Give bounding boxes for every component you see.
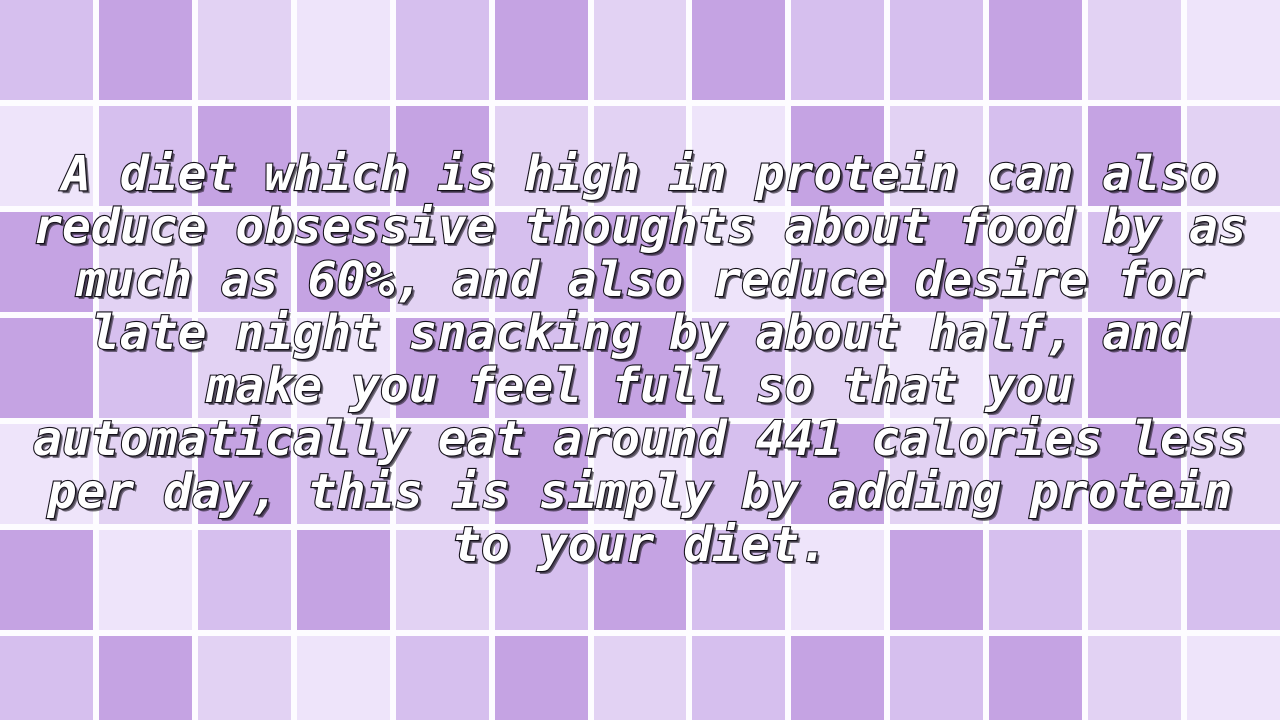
background-tile	[989, 318, 1082, 418]
background-tile	[297, 106, 390, 206]
background-tile	[594, 424, 687, 524]
background-tile	[692, 0, 785, 100]
background-tile	[99, 636, 192, 720]
background-tile	[692, 212, 785, 312]
background-tile	[1088, 530, 1181, 630]
background-tile	[396, 530, 489, 630]
background-tile	[791, 424, 884, 524]
background-tile	[594, 0, 687, 100]
background-tile	[0, 424, 93, 524]
background-tile	[989, 0, 1082, 100]
background-tile	[198, 636, 291, 720]
background-tile	[198, 0, 291, 100]
background-tile	[198, 106, 291, 206]
background-tile	[297, 318, 390, 418]
background-tile	[297, 212, 390, 312]
background-tile	[99, 0, 192, 100]
background-tile	[791, 106, 884, 206]
background-tile	[198, 318, 291, 418]
background-tile	[0, 318, 93, 418]
background-tile	[594, 318, 687, 418]
background-tile	[99, 318, 192, 418]
background-tile	[989, 212, 1082, 312]
background-tile	[1187, 318, 1280, 418]
background-tile	[396, 424, 489, 524]
background-tile	[99, 530, 192, 630]
background-tile	[396, 636, 489, 720]
background-tile	[495, 530, 588, 630]
background-tile	[791, 530, 884, 630]
background-tile	[890, 424, 983, 524]
background-tile	[1187, 106, 1280, 206]
background-tile	[99, 212, 192, 312]
background-tile	[495, 424, 588, 524]
background-tile	[99, 106, 192, 206]
background-tile	[594, 636, 687, 720]
background-tile	[1187, 424, 1280, 524]
background-tile	[0, 212, 93, 312]
background-tile	[692, 424, 785, 524]
background-tile	[692, 318, 785, 418]
background-tile	[791, 212, 884, 312]
background-tile	[198, 530, 291, 630]
background-tile	[495, 318, 588, 418]
background-tile	[692, 106, 785, 206]
background-tile	[1088, 212, 1181, 312]
background-tile	[692, 530, 785, 630]
background-tile	[594, 530, 687, 630]
background-tile	[198, 424, 291, 524]
background-tile	[1187, 0, 1280, 100]
background-tile	[0, 0, 93, 100]
background-tile	[396, 318, 489, 418]
background-tile	[791, 318, 884, 418]
background-tile	[198, 212, 291, 312]
background-tile	[0, 106, 93, 206]
background-tile	[1088, 424, 1181, 524]
background-tile	[890, 106, 983, 206]
checkerboard-background	[0, 0, 1280, 720]
background-tile	[495, 0, 588, 100]
background-tile	[989, 106, 1082, 206]
background-tile	[989, 424, 1082, 524]
background-tile	[890, 318, 983, 418]
background-tile	[890, 636, 983, 720]
background-tile	[791, 636, 884, 720]
background-tile	[495, 106, 588, 206]
background-tile	[396, 212, 489, 312]
background-tile	[1187, 212, 1280, 312]
quote-card: A diet which is high in protein can also…	[0, 0, 1280, 720]
background-tile	[495, 212, 588, 312]
background-tile	[297, 530, 390, 630]
background-tile	[791, 0, 884, 100]
background-tile	[0, 636, 93, 720]
background-tile	[0, 530, 93, 630]
background-tile	[297, 0, 390, 100]
background-tile	[594, 212, 687, 312]
background-tile	[297, 424, 390, 524]
background-tile	[396, 106, 489, 206]
background-tile	[1088, 318, 1181, 418]
background-tile	[890, 0, 983, 100]
background-tile	[1088, 106, 1181, 206]
background-tile	[396, 0, 489, 100]
background-tile	[1088, 0, 1181, 100]
background-tile	[594, 106, 687, 206]
background-tile	[1187, 636, 1280, 720]
background-tile	[495, 636, 588, 720]
background-tile	[1187, 530, 1280, 630]
background-tile	[890, 212, 983, 312]
background-tile	[1088, 636, 1181, 720]
background-tile	[297, 636, 390, 720]
background-tile	[890, 530, 983, 630]
background-tile	[989, 636, 1082, 720]
background-tile	[989, 530, 1082, 630]
background-tile	[692, 636, 785, 720]
background-tile	[99, 424, 192, 524]
